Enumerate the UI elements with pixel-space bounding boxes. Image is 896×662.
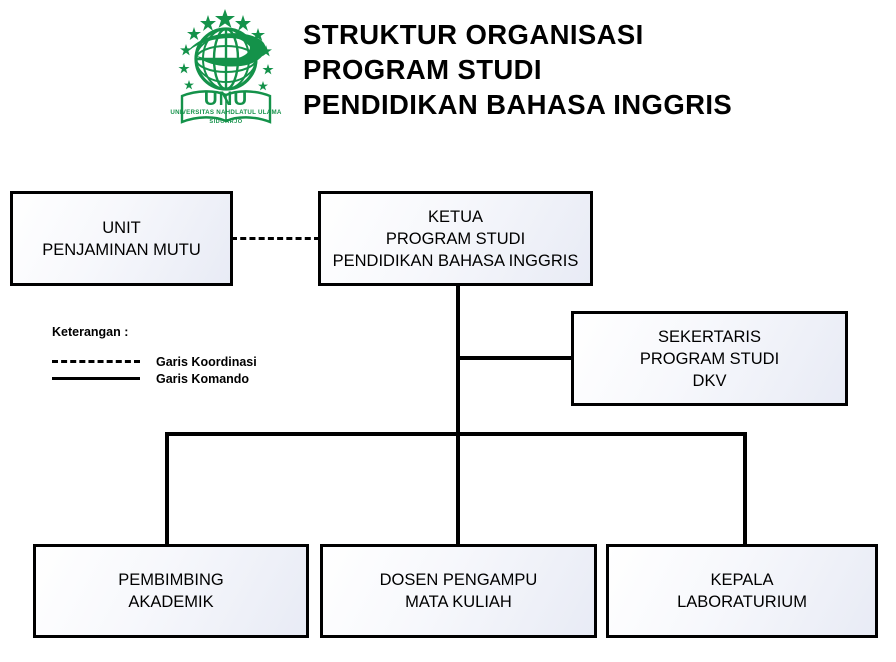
connector-drop-pembimbing xyxy=(165,432,169,545)
logo-acronym: UNU xyxy=(204,89,248,110)
node-sekertaris-line-3: DKV xyxy=(574,370,845,392)
node-unit-line-2: PENJAMINAN MUTU xyxy=(13,239,230,261)
legend-label-koordinasi: Garis Koordinasi xyxy=(156,355,257,369)
legend: Keterangan : Garis Koordinasi Garis Koma… xyxy=(52,325,257,387)
organization-chart-page: UNU UNIVERSITAS NAHDLATUL ULAMA SIDOARJO… xyxy=(0,0,896,662)
node-sekertaris-program-studi[interactable]: SEKERTARIS PROGRAM STUDI DKV xyxy=(571,311,848,406)
logo-institution: UNIVERSITAS NAHDLATUL ULAMA xyxy=(170,109,282,116)
node-unit-penjaminan-mutu[interactable]: UNIT PENJAMINAN MUTU xyxy=(10,191,233,286)
node-unit-line-1: UNIT xyxy=(13,217,230,239)
node-ketua-line-1: KETUA xyxy=(321,206,590,228)
node-pembimbing-line-2: AKADEMIK xyxy=(36,591,306,613)
node-sekertaris-line-2: PROGRAM STUDI xyxy=(574,348,845,370)
legend-item-koordinasi: Garis Koordinasi xyxy=(52,353,257,370)
connector-ketua-to-sekertaris xyxy=(456,356,574,360)
page-title: STRUKTUR ORGANISASI PROGRAM STUDI PENDID… xyxy=(303,17,883,122)
node-ketua-line-3: PENDIDIKAN BAHASA INGGRIS xyxy=(321,250,590,272)
page-title-line-3: PENDIDIKAN BAHASA INGGRIS xyxy=(303,87,883,122)
node-pembimbing-akademik[interactable]: PEMBIMBING AKADEMIK xyxy=(33,544,309,638)
legend-item-komando: Garis Komando xyxy=(52,370,257,387)
legend-label-komando: Garis Komando xyxy=(156,372,249,386)
node-kepala-line-1: KEPALA xyxy=(609,569,875,591)
dashed-line-icon xyxy=(52,360,140,363)
connector-drop-kepala xyxy=(743,432,747,545)
node-ketua-program-studi[interactable]: KETUA PROGRAM STUDI PENDIDIKAN BAHASA IN… xyxy=(318,191,593,286)
connector-unit-to-ketua-dashed xyxy=(231,237,320,240)
node-dosen-pengampu-mata-kuliah[interactable]: DOSEN PENGAMPU MATA KULIAH xyxy=(320,544,597,638)
node-kepala-line-2: LABORATURIUM xyxy=(609,591,875,613)
node-ketua-line-2: PROGRAM STUDI xyxy=(321,228,590,250)
connector-drop-dosen xyxy=(456,432,460,545)
node-pembimbing-line-1: PEMBIMBING xyxy=(36,569,306,591)
logo-city: SIDOARJO xyxy=(209,119,242,125)
node-dosen-line-2: MATA KULIAH xyxy=(323,591,594,613)
unu-sidoarjo-logo: UNU UNIVERSITAS NAHDLATUL ULAMA SIDOARJO xyxy=(163,4,289,134)
node-kepala-laboraturium[interactable]: KEPALA LABORATURIUM xyxy=(606,544,878,638)
solid-line-icon xyxy=(52,377,140,380)
node-dosen-line-1: DOSEN PENGAMPU xyxy=(323,569,594,591)
legend-title: Keterangan : xyxy=(52,325,257,339)
page-title-line-1: STRUKTUR ORGANISASI xyxy=(303,17,883,52)
page-title-line-2: PROGRAM STUDI xyxy=(303,52,883,87)
node-sekertaris-line-1: SEKERTARIS xyxy=(574,326,845,348)
